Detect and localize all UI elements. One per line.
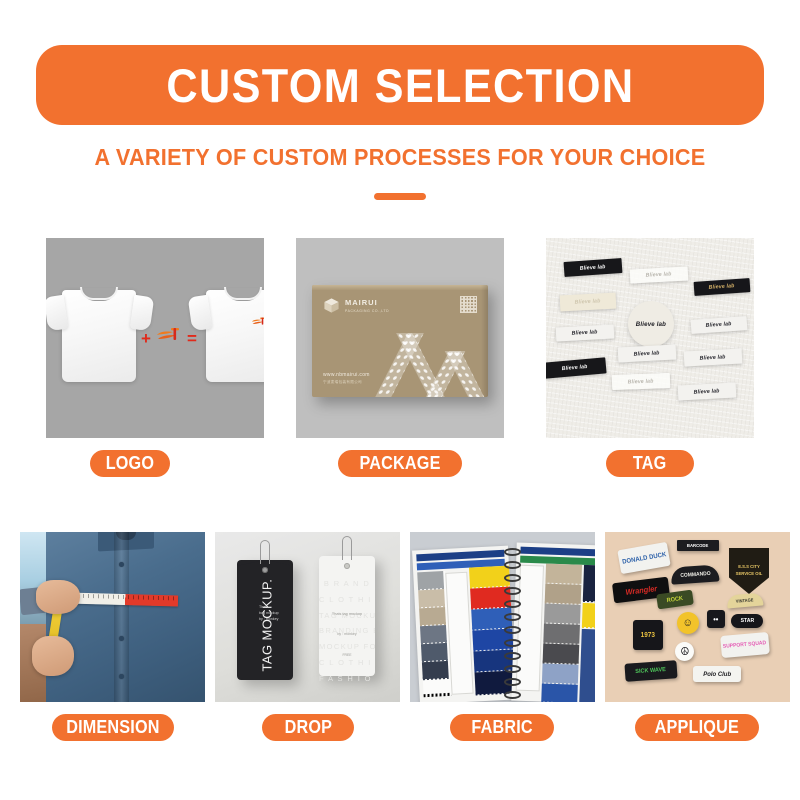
hang-tag-hole <box>344 563 350 569</box>
spiral-ring <box>504 665 521 673</box>
spiral-binding <box>504 546 521 702</box>
fabric-swatch <box>420 625 447 643</box>
box-top-edge <box>312 285 488 290</box>
patch-text: SICK WAVE <box>636 667 667 675</box>
package-thumbnail: MAIRUI PACKAGING CO.,LTD www.nbmairui.co… <box>296 238 504 438</box>
patch-text: SUPPORT SQUAD <box>723 640 767 650</box>
patch-peace-icon: ☮ <box>675 642 694 661</box>
woven-label: Blieve lab <box>556 324 615 341</box>
card-package[interactable]: MAIRUI PACKAGING CO.,LTD www.nbmairui.co… <box>296 238 504 438</box>
fabric-thumbnail <box>410 532 595 702</box>
fabric-swatch <box>543 644 580 664</box>
woven-label-text: Blieve lab <box>709 283 735 291</box>
fabric-swatch <box>542 664 579 684</box>
patch-text: DONALD DUCK <box>621 551 666 566</box>
patch-text: VINTAGE <box>736 597 754 604</box>
spiral-ring <box>504 587 521 595</box>
woven-label: Blieve lab <box>560 293 617 312</box>
woven-label-text: Blieve lab <box>562 364 588 372</box>
box-side-shadow <box>481 285 488 397</box>
patch-star: STAR <box>731 614 763 628</box>
embossed-line: C L O T H I N G <box>319 655 375 671</box>
blue-shirt <box>46 532 205 702</box>
box-brand-sub: PACKAGING CO.,LTD <box>345 309 389 313</box>
card-label-logo[interactable]: LOGO <box>90 450 170 477</box>
card-label-text: TAG <box>633 453 667 474</box>
patch-text: E.S.S CITY SERVICE OIL <box>733 564 764 578</box>
tag-thumbnail: Blieve lab Blieve lab Blieve lab Blieve … <box>546 238 754 438</box>
peace-sign-icon: ☮ <box>680 645 689 658</box>
card-label-drop[interactable]: DROP <box>262 714 354 741</box>
woven-label-text: Blieve lab <box>634 350 660 357</box>
patch-text: 1973 <box>641 632 655 639</box>
card-label-package[interactable]: PACKAGE <box>338 450 462 477</box>
card-drop[interactable]: TAG MOCKUP. Thats bag mockup by : monkey… <box>215 532 400 702</box>
patch-donald-duck: DONALD DUCK <box>617 542 670 574</box>
card-fabric[interactable]: FABRIC <box>410 532 595 702</box>
embossed-line: B R A N D <box>319 576 375 592</box>
woven-label: Blieve lab <box>691 316 748 334</box>
woven-label: Blieve lab <box>630 266 689 283</box>
dimension-thumbnail <box>20 532 205 702</box>
hang-tag-black: TAG MOCKUP. Thats bag mockup by : monkey <box>237 560 293 680</box>
page-title: CUSTOM SELECTION <box>166 58 634 113</box>
smiley-face-icon: ☺ <box>683 617 693 629</box>
embossed-line: C L O T H I N G <box>319 592 375 608</box>
shirt-button <box>119 562 124 567</box>
spiral-ring <box>504 574 521 582</box>
patch-sick-wave: SICK WAVE <box>624 660 677 682</box>
woven-label-text: Blieve lab <box>700 354 726 361</box>
card-label-dimension[interactable]: DIMENSION <box>52 714 174 741</box>
fabric-swatch <box>545 564 582 584</box>
woven-label-text: Blieve lab <box>628 378 654 385</box>
fabric-swatch <box>417 571 444 589</box>
woven-label-text: Blieve lab <box>580 264 606 272</box>
header-banner: CUSTOM SELECTION <box>36 45 764 125</box>
card-label-tag[interactable]: TAG <box>606 450 694 477</box>
fabric-swatch <box>583 565 595 602</box>
tshirt-body <box>206 290 264 382</box>
brand-logo-mark <box>154 322 182 344</box>
box-url-block: www.nbmairui.com 宁波麦瑞包装有限公司 <box>323 372 370 385</box>
card-label-text: FABRIC <box>471 717 532 738</box>
woven-label: Blieve lab <box>678 382 737 400</box>
fabric-swatch <box>545 584 582 604</box>
product-box: MAIRUI PACKAGING CO.,LTD www.nbmairui.co… <box>312 285 488 397</box>
box-brand-lockup: MAIRUI PACKAGING CO.,LTD <box>323 297 389 314</box>
custom-selection-page: CUSTOM SELECTION A VARIETY OF CUSTOM PRO… <box>0 0 800 800</box>
page-subtitle: A VARIETY OF CUSTOM PROCESSES FOR YOUR C… <box>24 144 776 171</box>
embossed-line: F A S H I O N <box>319 671 375 687</box>
woven-label: Blieve lab <box>694 278 751 296</box>
woven-label-text: Blieve lab <box>636 321 666 328</box>
hand-upper <box>36 580 80 614</box>
woven-label-text: Blieve lab <box>575 298 601 305</box>
fabric-swatch <box>422 661 449 679</box>
hang-tag-string <box>260 540 270 564</box>
spiral-ring <box>504 691 521 699</box>
woven-label: Blieve lab <box>618 344 677 362</box>
qr-code-icon <box>460 296 477 313</box>
fabric-swatch <box>582 603 595 628</box>
patch-city-service: E.S.S CITY SERVICE OIL <box>729 548 769 594</box>
spiral-ring <box>504 600 521 608</box>
card-label-text: APPLIQUE <box>655 717 739 738</box>
spiral-ring <box>504 626 521 634</box>
box-brand-name: MAIRUI <box>345 298 389 307</box>
hang-tag-caption: by : monkey <box>319 632 375 636</box>
patch-barcode: BARCODE <box>677 540 719 551</box>
card-tag[interactable]: Blieve lab Blieve lab Blieve lab Blieve … <box>546 238 754 438</box>
box-url-sub: 宁波麦瑞包装有限公司 <box>323 380 370 385</box>
card-label-applique[interactable]: APPLIQUE <box>635 714 759 741</box>
patch-text: Wrangler <box>625 584 658 597</box>
card-label-text: LOGO <box>106 453 154 474</box>
patch-text: Polo Club <box>703 671 731 678</box>
plus-sign: + <box>141 329 151 349</box>
card-dimension[interactable]: DIMENSION <box>20 532 205 702</box>
drop-thumbnail: TAG MOCKUP. Thats bag mockup by : monkey… <box>215 532 400 702</box>
fabric-swatch <box>543 624 580 644</box>
tshirt-blank <box>62 290 136 382</box>
fabric-swatch <box>421 643 448 661</box>
hand-lower <box>32 636 74 676</box>
spiral-ring <box>504 639 521 647</box>
hang-tag-caption: FREE <box>319 653 375 657</box>
fabric-swatch <box>419 607 446 625</box>
robot-face-icon: •• <box>713 615 718 624</box>
patch-robot-icon: •• <box>707 610 725 628</box>
fabric-swatch <box>544 604 581 624</box>
fabric-swatch <box>418 589 445 607</box>
patch-polo-club: Polo Club <box>693 666 741 682</box>
shirt-button <box>119 636 124 641</box>
spiral-ring <box>504 613 521 621</box>
caption-line: by : monkey <box>259 616 279 622</box>
woven-label: Blieve lab <box>612 373 670 390</box>
cube-logo-icon <box>323 297 340 314</box>
swatch-page-right <box>511 543 595 702</box>
patch-text: BARCODE <box>687 543 708 548</box>
box-brand-text: MAIRUI PACKAGING CO.,LTD <box>345 298 389 313</box>
box-url: www.nbmairui.com <box>323 372 370 378</box>
tshirt-sleeve-right <box>130 295 155 331</box>
shirt-button <box>119 674 124 679</box>
woven-label: Blieve lab <box>684 348 743 366</box>
hang-tag-caption: Thats bag mockup by : monkey <box>259 604 279 622</box>
card-logo[interactable]: + = <box>46 238 264 438</box>
swatch-page-left <box>412 546 516 702</box>
spiral-ring <box>504 548 521 556</box>
spiral-ring <box>504 678 521 686</box>
hang-tag-string <box>342 536 352 560</box>
fabric-swatch <box>541 684 578 702</box>
tshirt-printed <box>206 290 264 382</box>
patch-smiley-icon: ☺ <box>677 612 699 634</box>
patch-text: COMMANDO <box>680 570 711 578</box>
woven-label: Blieve lab <box>564 258 623 277</box>
applique-thumbnail: DONALD DUCK BARCODE E.S.S CITY SERVICE O… <box>605 532 790 702</box>
header-divider <box>374 193 426 200</box>
card-label-text: DROP <box>284 717 332 738</box>
card-applique[interactable]: DONALD DUCK BARCODE E.S.S CITY SERVICE O… <box>605 532 790 702</box>
page-header-band <box>520 547 595 557</box>
woven-label-text: Blieve lab <box>706 321 732 329</box>
patch-vintage: VINTAGE <box>727 592 764 608</box>
patch-1973: 1973 <box>633 620 663 650</box>
patch-text: ROCK <box>667 595 684 603</box>
card-label-fabric[interactable]: FABRIC <box>450 714 554 741</box>
patch-text: STAR <box>740 618 754 624</box>
card-label-text: PACKAGE <box>359 453 440 474</box>
hang-tag-white: B R A N D C L O T H I N G TAG MOCKUP BRA… <box>319 556 375 676</box>
hang-tag-caption: Thats tag mockup <box>319 612 375 616</box>
logo-thumbnail: + = <box>46 238 264 438</box>
patch-support-squad: SUPPORT SQUAD <box>720 632 770 658</box>
tshirt-body <box>62 290 136 382</box>
fabric-swatch <box>579 629 595 702</box>
woven-label-round: Blieve lab <box>628 301 674 347</box>
woven-label-text: Blieve lab <box>694 388 720 395</box>
card-label-text: DIMENSION <box>66 717 159 738</box>
spiral-ring <box>504 561 521 569</box>
tshirt-chest-logo <box>249 314 264 327</box>
woven-label-text: Blieve lab <box>572 329 598 336</box>
woven-label: Blieve lab <box>546 357 607 378</box>
patch-commando: COMMANDO <box>670 564 719 584</box>
equals-sign: = <box>187 329 197 349</box>
woven-label-text: Blieve lab <box>646 271 672 278</box>
spiral-ring <box>504 652 521 660</box>
